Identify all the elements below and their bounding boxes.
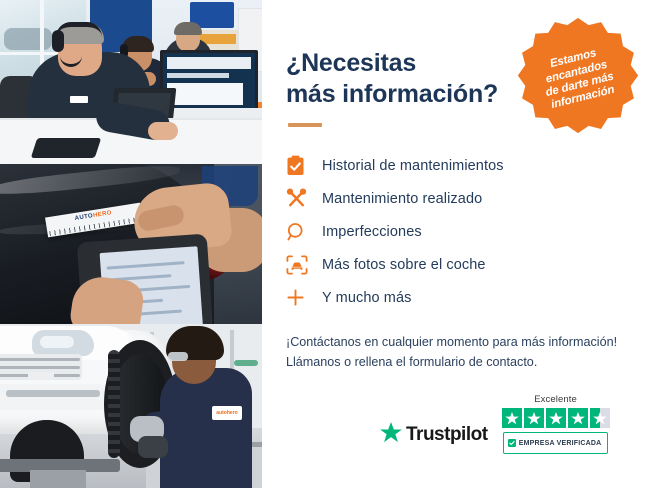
plus-icon [286, 288, 322, 307]
star-filled [524, 408, 544, 428]
verified-label: EMPRESA VERIFICADA [519, 440, 602, 447]
contact-text: ¡Contáctanos en cualquier momento para m… [286, 332, 624, 373]
feature-label: Imperfecciones [322, 224, 422, 240]
front-bumper [0, 384, 106, 410]
car-outside-window [4, 28, 52, 50]
clipboard-check-icon [286, 155, 322, 176]
tablet-on-desk [31, 138, 101, 158]
star-rating [502, 408, 610, 428]
star-filled [546, 408, 566, 428]
grille-bar [0, 366, 80, 369]
colleague-far-hair [174, 22, 202, 35]
trustpilot-wordmark: Trustpilot [406, 424, 488, 446]
safety-glasses [168, 352, 188, 361]
uniform-logo-text: autohero [212, 406, 242, 420]
feature-label: Más fotos sobre el coche [322, 257, 486, 273]
car-photo-frame-icon [286, 255, 322, 275]
feature-label: Y mucho más [322, 290, 411, 306]
tablet-line [107, 261, 185, 269]
chrome-trim [6, 390, 100, 397]
tyre-tread [108, 350, 120, 458]
information-promo-card: AUTOHERO [0, 0, 650, 488]
grille-bar [0, 358, 80, 361]
agent-hand [148, 122, 178, 140]
list-item: Más fotos sobre el coche [286, 248, 624, 281]
trustpilot-rating: Excelente EMPRESA VERIFICADA [502, 394, 610, 454]
badge-plate [28, 372, 54, 380]
rating-label: Excelente [534, 394, 577, 405]
trustpilot-widget[interactable]: Trustpilot Excelente [380, 394, 610, 454]
magnifier-icon [286, 222, 322, 242]
green-hose [234, 360, 258, 366]
car-lift-base [30, 470, 86, 488]
agent-name-badge [70, 96, 88, 103]
mechanic-wheel-photo: autohero [0, 324, 262, 488]
car-inspection-ruler-photo: AUTOHERO [0, 164, 262, 324]
badge-text: Estamos encantados de darte más informac… [521, 40, 635, 117]
title-underline-rule [288, 123, 322, 127]
monitor-ui-row [167, 73, 229, 78]
work-glove-2 [138, 436, 168, 458]
verified-business-badge: EMPRESA VERIFICADA [503, 432, 609, 454]
ruler-brand-hero: HERO [93, 210, 113, 219]
star-filled [502, 408, 522, 428]
call-center-agents-photo [0, 0, 262, 164]
uniform-logo: autohero [212, 406, 242, 420]
list-item: Y mucho más [286, 281, 624, 314]
feature-list: Historial de mantenimientos Mantenimient… [286, 149, 624, 314]
contact-line-1: ¡Contáctanos en cualquier momento para m… [286, 332, 624, 352]
tools-cross-icon [286, 188, 322, 209]
star-filled [568, 408, 588, 428]
trustpilot-star-icon [380, 422, 402, 448]
headline-line-1: ¿Necesitas [286, 49, 416, 77]
page-title: ¿Necesitas más información? [286, 48, 516, 109]
ruler-brand-auto: AUTO [74, 213, 93, 222]
contact-line-2: Llámanos o rellena el formulario de cont… [286, 352, 624, 372]
trustpilot-logo[interactable]: Trustpilot [380, 422, 488, 454]
feature-label: Mantenimiento realizado [322, 191, 482, 207]
list-item: Mantenimiento realizado [286, 182, 624, 215]
photo-column: AUTOHERO [0, 0, 262, 488]
monitor-ui-header [167, 57, 251, 69]
headset-earcup-icon [52, 30, 64, 52]
content-panel: ¿Necesitas más información? Esta [262, 0, 650, 488]
monitor-ui-body [167, 83, 243, 105]
verified-check-icon [508, 434, 516, 452]
star-half [590, 408, 610, 428]
list-item: Imperfecciones [286, 215, 624, 248]
list-item: Historial de mantenimientos [286, 149, 624, 182]
feature-label: Historial de mantenimientos [322, 158, 504, 174]
headline-line-2: más información? [286, 80, 498, 108]
headlight-lens [40, 336, 74, 348]
promo-starburst-badge: Estamos encantados de darte más informac… [516, 16, 640, 140]
